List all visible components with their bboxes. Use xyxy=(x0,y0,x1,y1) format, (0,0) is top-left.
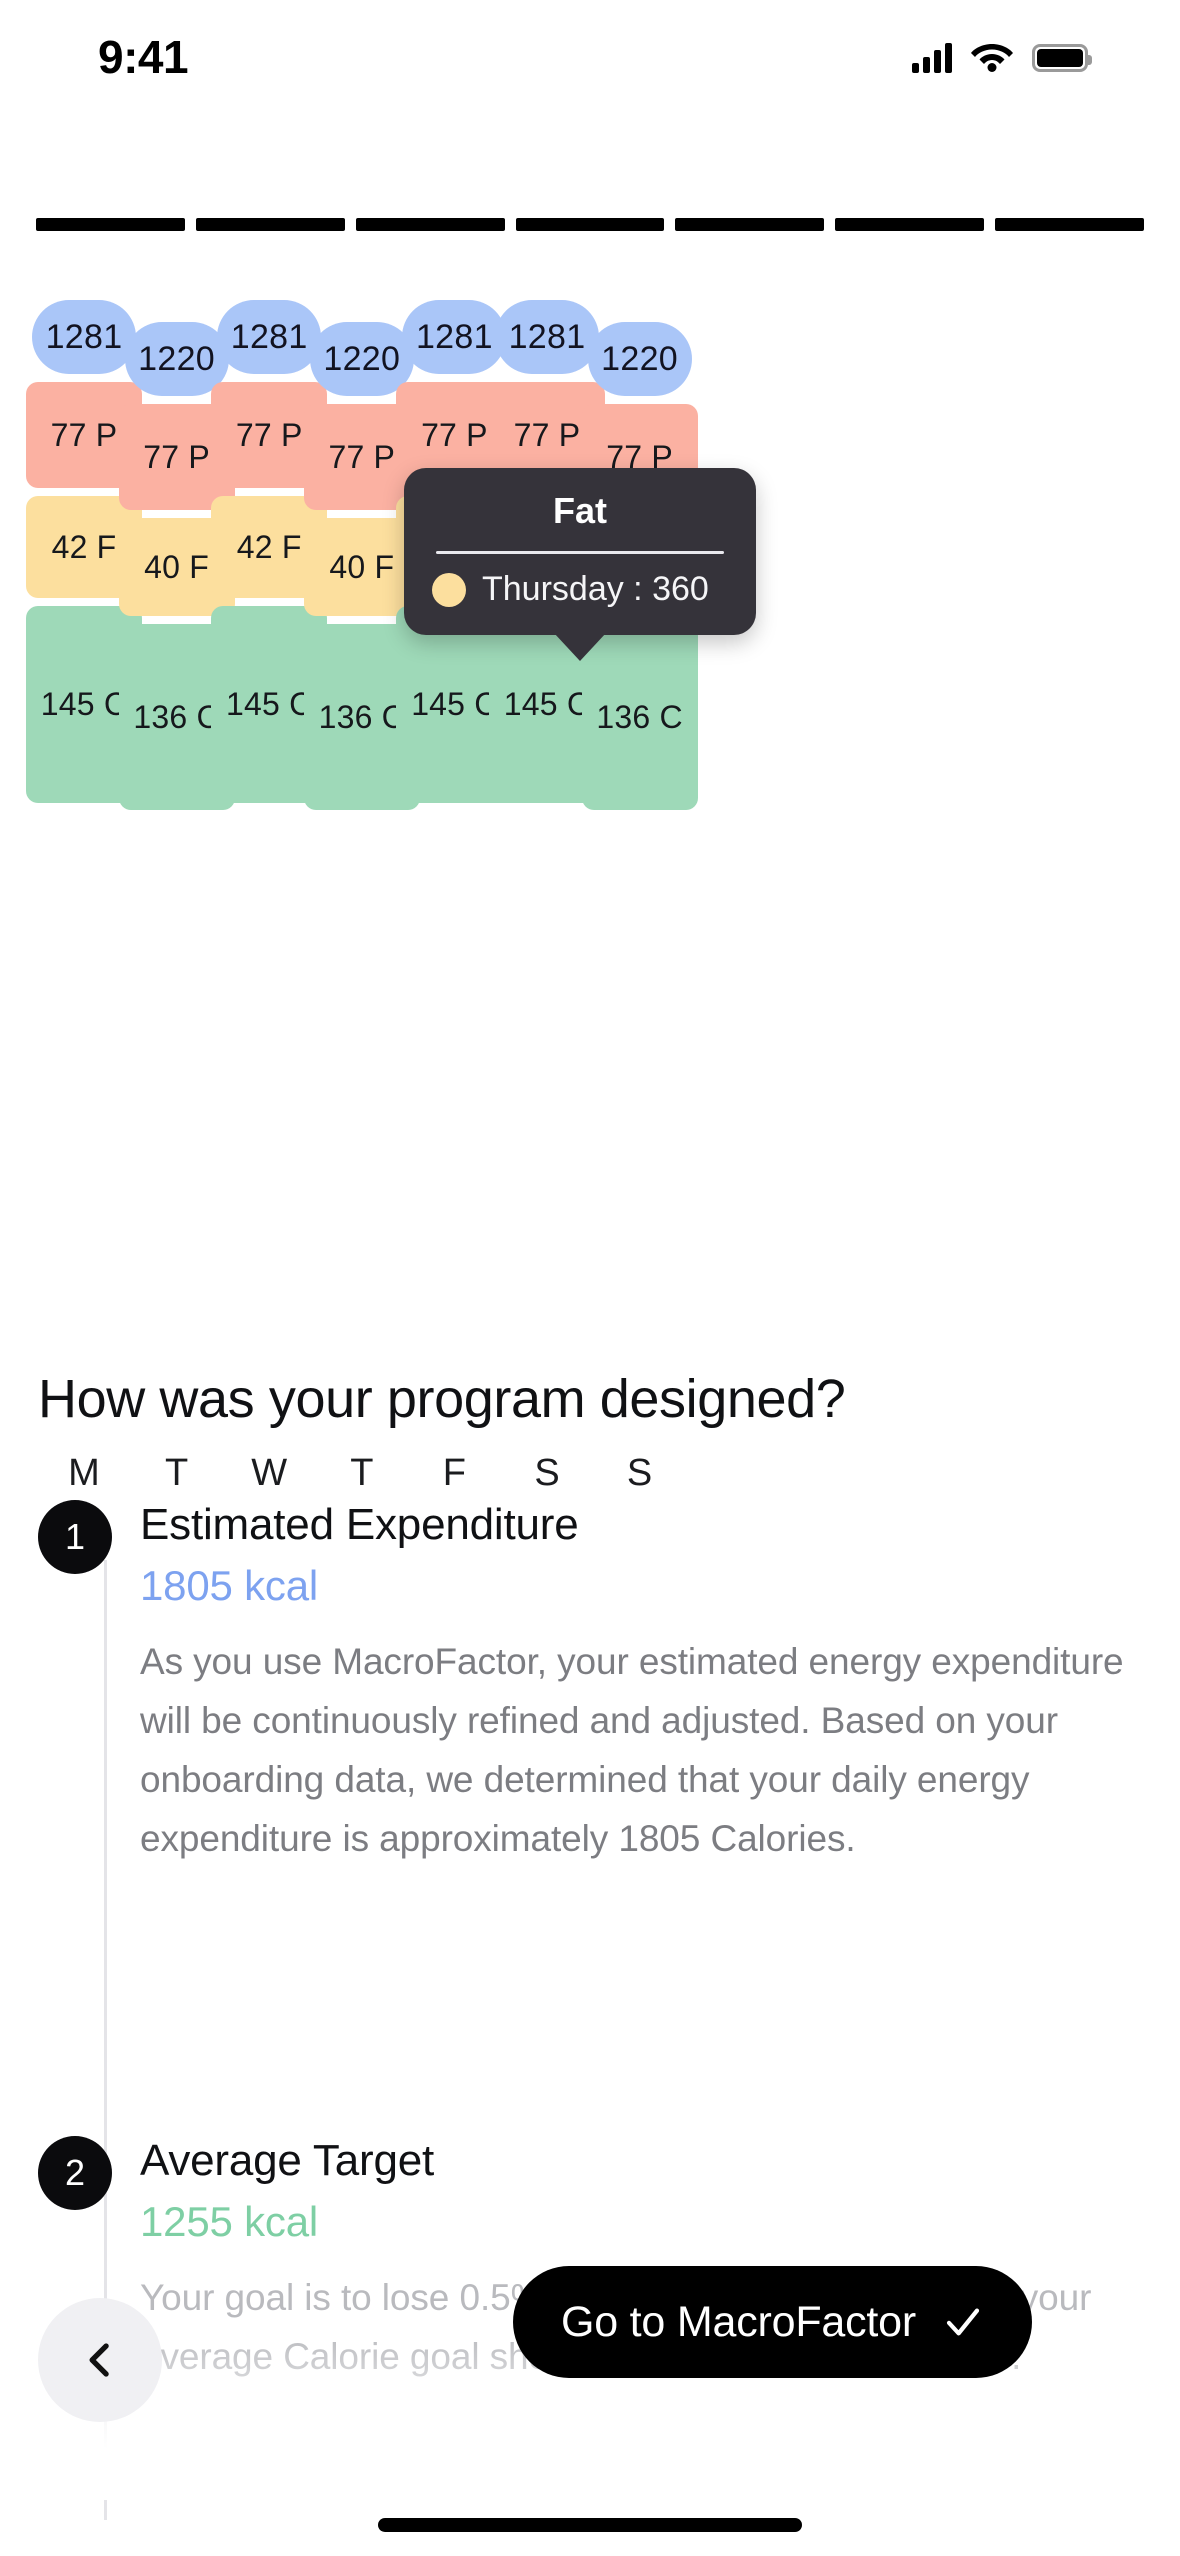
page-title: How was your program designed? xyxy=(38,1368,845,1430)
progress-segment xyxy=(516,218,665,231)
progress-segment xyxy=(995,218,1144,231)
progress-segment xyxy=(356,218,505,231)
progress-segment xyxy=(675,218,824,231)
chevron-left-icon xyxy=(79,2339,121,2381)
progress-segment xyxy=(36,218,185,231)
wifi-icon xyxy=(970,40,1014,77)
tooltip-divider xyxy=(436,551,724,554)
chart-tooltip: Fat Thursday : 360 xyxy=(404,468,756,635)
status-bar: 9:41 xyxy=(0,0,1180,120)
onboarding-progress-bar xyxy=(36,218,1144,231)
status-bar-icons xyxy=(912,36,1088,80)
chart-day-label: S xyxy=(582,1452,698,1495)
progress-segment xyxy=(835,218,984,231)
back-button[interactable] xyxy=(38,2298,162,2422)
step-value: 1805 kcal xyxy=(140,1562,1142,1610)
step-number-badge: 1 xyxy=(38,1500,112,1574)
calorie-total-badge: 1220 xyxy=(588,322,692,396)
app-screen: 9:41 128177 P42 F145 CM122077 P40 F136 C… xyxy=(0,0,1180,2556)
home-indicator xyxy=(378,2518,802,2532)
step-number-badge: 2 xyxy=(38,2136,112,2210)
status-bar-time: 9:41 xyxy=(98,30,188,84)
tooltip-row-label: Thursday : 360 xyxy=(482,570,709,609)
check-icon xyxy=(942,2301,984,2343)
step-title: Average Target xyxy=(140,2136,1142,2186)
cellular-signal-icon xyxy=(912,43,952,73)
tooltip-title: Fat xyxy=(428,490,732,532)
step-value: 1255 kcal xyxy=(140,2198,1142,2246)
step-title: Estimated Expenditure xyxy=(140,1500,1142,1550)
tooltip-series-dot-icon xyxy=(432,573,466,607)
macro-stacked-bar-chart[interactable]: 128177 P42 F145 CM122077 P40 F136 CT1281… xyxy=(0,300,1180,1310)
battery-icon xyxy=(1032,44,1088,72)
tooltip-row: Thursday : 360 xyxy=(428,570,732,609)
go-to-macrofactor-label: Go to MacroFactor xyxy=(561,2298,916,2347)
step-description: As you use MacroFactor, your estimated e… xyxy=(140,1632,1142,1868)
tooltip-arrow xyxy=(554,633,606,661)
go-to-macrofactor-button[interactable]: Go to MacroFactor xyxy=(513,2266,1032,2378)
progress-segment xyxy=(196,218,345,231)
program-step-1: 1 Estimated Expenditure 1805 kcal As you… xyxy=(38,1500,1142,1868)
